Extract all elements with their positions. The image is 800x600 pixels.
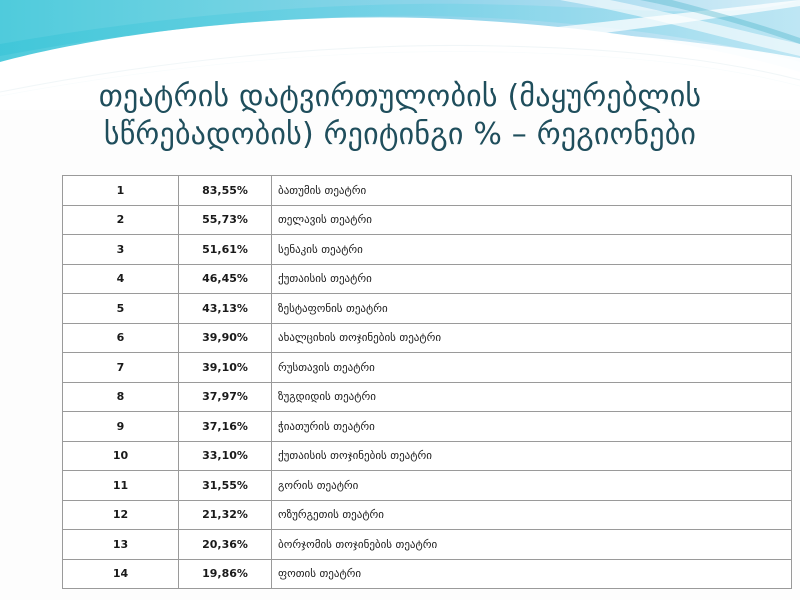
table-cell-percent: 43,13%	[179, 294, 272, 324]
table-row: 739,10%რუსთავის თეატრი	[63, 353, 792, 383]
table-cell-rank: 3	[63, 235, 179, 265]
table-cell-theatre-name: ბორჯომის თოჯინების თეატრი	[272, 530, 792, 560]
rating-table-container: 183,55%ბათუმის თეატრი255,73%თელავის თეატ…	[62, 175, 752, 589]
theatre-rating-table: 183,55%ბათუმის თეატრი255,73%თელავის თეატ…	[62, 175, 792, 589]
table-cell-rank: 10	[63, 441, 179, 471]
table-cell-theatre-name: ზუგდიდის თეატრი	[272, 382, 792, 412]
table-cell-percent: 39,90%	[179, 323, 272, 353]
table-cell-rank: 7	[63, 353, 179, 383]
slide-title-line-2: სწრებადობის) რეიტინგი % – რეგიონები	[0, 116, 800, 154]
table-cell-theatre-name: ჭიათურის თეატრი	[272, 412, 792, 442]
table-cell-theatre-name: სენაკის თეატრი	[272, 235, 792, 265]
table-cell-rank: 11	[63, 471, 179, 501]
table-cell-rank: 9	[63, 412, 179, 442]
table-row: 543,13%ზესტაფონის თეატრი	[63, 294, 792, 324]
table-row: 937,16%ჭიათურის თეატრი	[63, 412, 792, 442]
table-cell-rank: 1	[63, 176, 179, 206]
slide-title: თეატრის დატვირთულობის (მაყურებლის სწრება…	[0, 78, 800, 155]
table-cell-theatre-name: ქუთაისის თეატრი	[272, 264, 792, 294]
table-cell-theatre-name: ახალციხის თოჯინების თეატრი	[272, 323, 792, 353]
table-row: 446,45%ქუთაისის თეატრი	[63, 264, 792, 294]
table-cell-percent: 37,97%	[179, 382, 272, 412]
table-cell-rank: 2	[63, 205, 179, 235]
table-cell-theatre-name: ზესტაფონის თეატრი	[272, 294, 792, 324]
table-cell-theatre-name: გორის თეატრი	[272, 471, 792, 501]
table-row: 1221,32%ოზურგეთის თეატრი	[63, 500, 792, 530]
table-row: 351,61%სენაკის თეატრი	[63, 235, 792, 265]
table-cell-rank: 5	[63, 294, 179, 324]
table-cell-percent: 39,10%	[179, 353, 272, 383]
table-row: 255,73%თელავის თეატრი	[63, 205, 792, 235]
table-row: 1131,55%გორის თეატრი	[63, 471, 792, 501]
table-cell-percent: 83,55%	[179, 176, 272, 206]
table-cell-percent: 21,32%	[179, 500, 272, 530]
table-cell-percent: 37,16%	[179, 412, 272, 442]
table-row: 837,97%ზუგდიდის თეატრი	[63, 382, 792, 412]
table-row: 183,55%ბათუმის თეატრი	[63, 176, 792, 206]
table-cell-theatre-name: თელავის თეატრი	[272, 205, 792, 235]
table-cell-percent: 55,73%	[179, 205, 272, 235]
banner-ribbon-right-accent	[640, 0, 800, 44]
table-cell-theatre-name: ქუთაისის თოჯინების თეატრი	[272, 441, 792, 471]
table-cell-percent: 33,10%	[179, 441, 272, 471]
table-row: 1419,86%ფოთის თეატრი	[63, 559, 792, 589]
table-cell-rank: 12	[63, 500, 179, 530]
banner-ribbon-right	[560, 0, 800, 56]
banner-pale-swoosh	[0, 0, 800, 84]
table-row: 1033,10%ქუთაისის თოჯინების თეატრი	[63, 441, 792, 471]
table-row: 639,90%ახალციხის თოჯინების თეატრი	[63, 323, 792, 353]
table-cell-rank: 8	[63, 382, 179, 412]
table-cell-percent: 46,45%	[179, 264, 272, 294]
table-cell-percent: 19,86%	[179, 559, 272, 589]
table-cell-theatre-name: ფოთის თეატრი	[272, 559, 792, 589]
banner-teal-band	[0, 0, 800, 62]
table-cell-rank: 13	[63, 530, 179, 560]
table-cell-percent: 51,61%	[179, 235, 272, 265]
table-cell-theatre-name: ბათუმის თეატრი	[272, 176, 792, 206]
table-cell-rank: 14	[63, 559, 179, 589]
table-cell-theatre-name: ოზურგეთის თეატრი	[272, 500, 792, 530]
slide-title-line-1: თეატრის დატვირთულობის (მაყურებლის	[0, 78, 800, 116]
table-cell-theatre-name: რუსთავის თეატრი	[272, 353, 792, 383]
presentation-slide: თეატრის დატვირთულობის (მაყურებლის სწრება…	[0, 0, 800, 600]
table-cell-percent: 31,55%	[179, 471, 272, 501]
table-cell-rank: 6	[63, 323, 179, 353]
theatre-rating-table-body: 183,55%ბათუმის თეატრი255,73%თელავის თეატ…	[63, 176, 792, 589]
table-cell-percent: 20,36%	[179, 530, 272, 560]
table-row: 1320,36%ბორჯომის თოჯინების თეატრი	[63, 530, 792, 560]
table-cell-rank: 4	[63, 264, 179, 294]
